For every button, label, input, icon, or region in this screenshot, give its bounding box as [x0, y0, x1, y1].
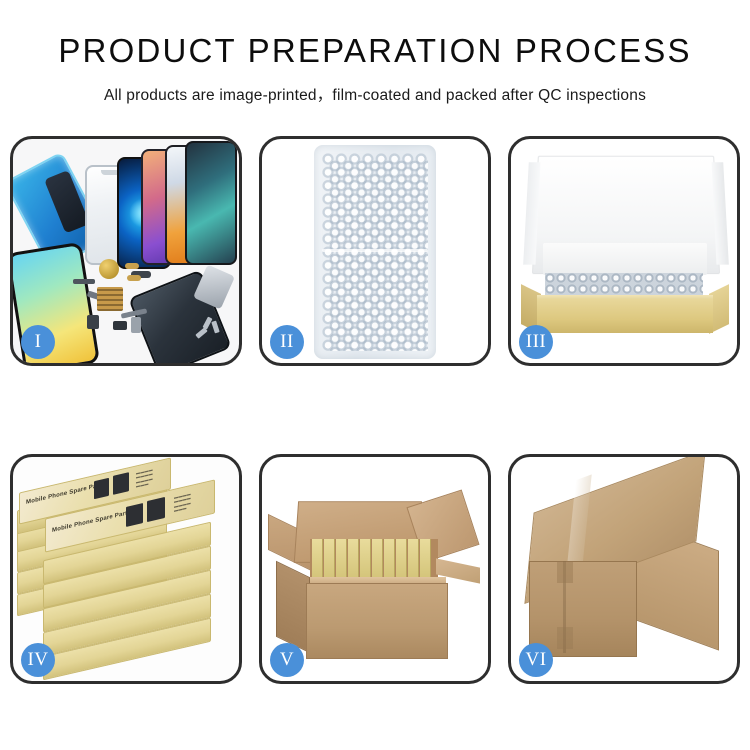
bubble-wrap-pouch-icon — [314, 145, 436, 359]
carton-tab — [557, 561, 573, 583]
step-badge-2: II — [270, 325, 304, 359]
carton-front-panel — [529, 561, 637, 657]
speaker-icon — [113, 321, 127, 330]
process-steps-grid: I II III — [10, 136, 740, 684]
pouch-seam — [322, 249, 428, 252]
step-panel-6: VI — [508, 454, 740, 684]
chip-grid-icon — [97, 287, 123, 311]
bubble-pattern — [329, 160, 428, 351]
foam-insert-icon — [543, 243, 707, 275]
page-title: PRODUCT PREPARATION PROCESS — [0, 34, 750, 67]
step-panel-2: II — [259, 136, 491, 366]
vibration-motor-icon — [99, 259, 119, 279]
box-spec-lines: ▬▬▬▬▬▬▬▬▬▬▬▬▬▬▬ — [174, 492, 191, 514]
page-subtitle: All products are image-printed，film-coat… — [0, 83, 750, 105]
box-product-image — [113, 472, 129, 495]
camera-module-icon — [87, 315, 99, 329]
box-spec-lines: ▬▬▬▬▬▬▬▬▬▬▬▬▬▬▬ — [136, 468, 153, 490]
step-badge-5: V — [270, 643, 304, 677]
box-stack: Mobile Phone Spare Parts ▬▬▬▬▬▬▬▬▬▬▬▬▬▬▬… — [17, 469, 235, 675]
box-front-panel — [537, 299, 713, 333]
step-panel-5: V — [259, 454, 491, 684]
step-badge-4: IV — [21, 643, 55, 677]
carton-front-panel — [306, 583, 448, 659]
step-panel-4: Mobile Phone Spare Parts ▬▬▬▬▬▬▬▬▬▬▬▬▬▬▬… — [10, 454, 242, 684]
box-product-image — [147, 497, 165, 522]
step-panel-3: III — [508, 136, 740, 366]
box-label-text: Mobile Phone Spare Parts — [52, 510, 131, 534]
step-badge-6: VI — [519, 643, 553, 677]
flex-cable-icon — [73, 279, 95, 284]
phone-teal-icon — [185, 141, 237, 265]
page-header: PRODUCT PREPARATION PROCESS All products… — [0, 0, 750, 105]
step-panel-1: I — [10, 136, 242, 366]
box-product-image — [94, 478, 109, 499]
box-label-text: Mobile Phone Spare Parts — [26, 482, 105, 506]
side-button-icon — [127, 275, 141, 281]
side-button-icon — [125, 263, 139, 269]
step-badge-3: III — [519, 325, 553, 359]
step-badge-1: I — [21, 325, 55, 359]
battery-icon — [131, 317, 141, 333]
box-product-image — [126, 503, 143, 527]
carton-left-side — [276, 561, 310, 654]
carton-tab — [557, 627, 573, 649]
